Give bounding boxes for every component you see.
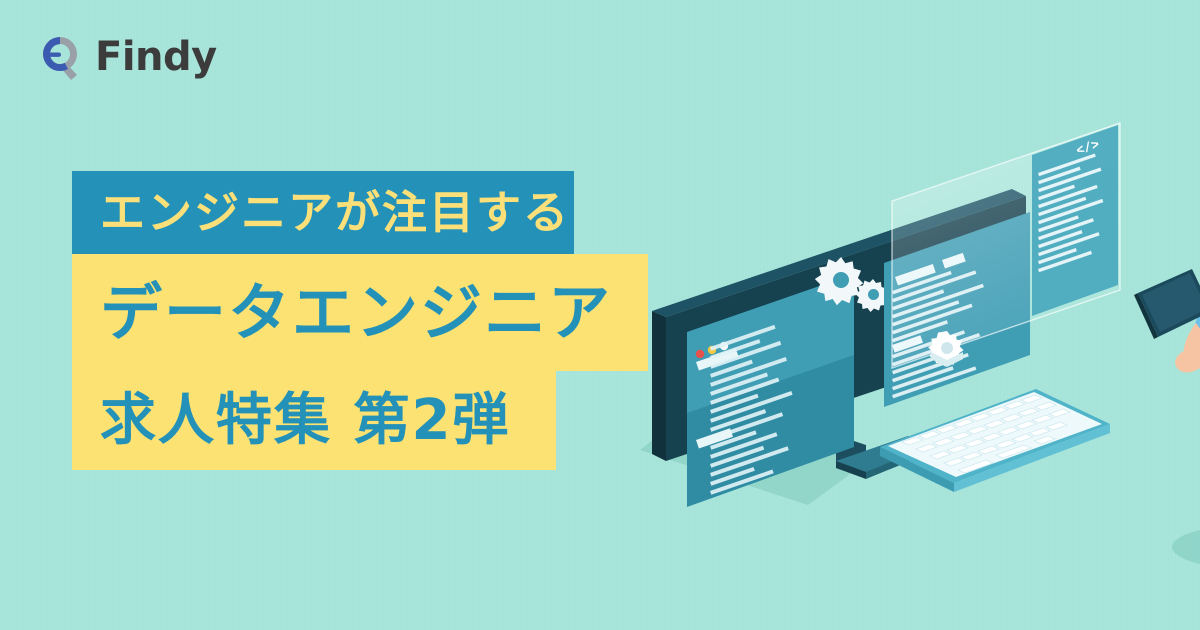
person-floor-shadow [1172, 525, 1200, 569]
dot-red-icon [696, 350, 704, 358]
findy-wordmark: Findy [95, 37, 217, 77]
banner-canvas: Findy エンジニアが注目する データエンジニア 求人特集 第2弾 [0, 0, 1200, 630]
person-engineer [1134, 176, 1200, 544]
isometric-workstation-svg: </> [640, 55, 1200, 630]
headline-line-1-band: エンジニアが注目する [72, 171, 574, 254]
headline-line-2-band: データエンジニア [72, 254, 648, 371]
headline-line-2-text: データエンジニア [100, 282, 612, 344]
hero-illustration: </> [640, 55, 1200, 630]
findy-q-logo-icon [36, 32, 84, 82]
headline-line-3-band: 求人特集 第2弾 [72, 371, 556, 470]
headline-line-3-text: 求人特集 第2弾 [100, 393, 510, 449]
tablet-device [1134, 269, 1200, 339]
headline-line-1-text: エンジニアが注目する [100, 190, 570, 235]
keyboard [880, 389, 1110, 492]
findy-logo[interactable]: Findy [36, 32, 217, 82]
